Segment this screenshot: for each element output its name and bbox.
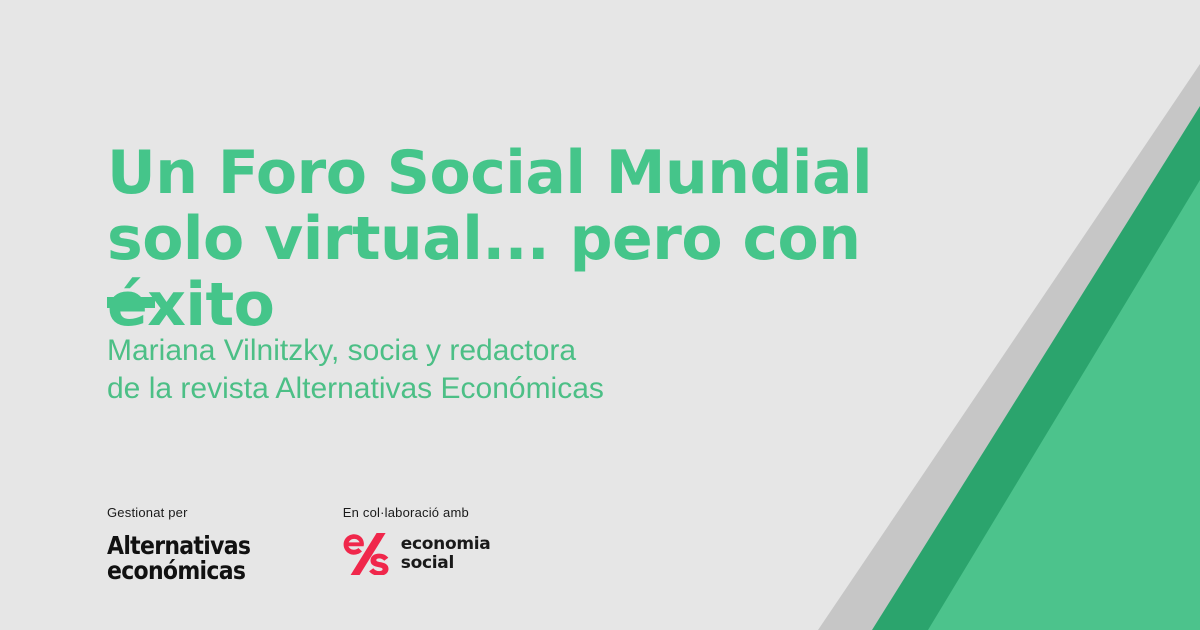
- light-green-diagonal-band: [928, 180, 1200, 630]
- accent-rule: [107, 297, 155, 308]
- page-subtitle: Mariana Vilnitzky, socia y redactora de …: [107, 332, 604, 408]
- es-slash-mark-icon: [343, 533, 392, 575]
- credit-label-managed-by: Gestionat per: [107, 505, 270, 521]
- economia-social-logo[interactable]: economia social: [343, 533, 491, 575]
- credits-row: Gestionat per Alternativas económicas En…: [107, 505, 490, 583]
- credit-collaboration: En col·laboració amb economia social: [343, 505, 491, 575]
- credit-label-collaboration: En col·laboració amb: [343, 505, 491, 521]
- economia-social-wordmark: economia social: [401, 535, 491, 573]
- page-title: Un Foro Social Mundial solo virtual... p…: [107, 140, 967, 338]
- social-share-card: Un Foro Social Mundial solo virtual... p…: [0, 0, 1200, 630]
- credit-managed-by: Gestionat per Alternativas económicas: [107, 505, 270, 583]
- alternativas-economicas-logo[interactable]: Alternativas económicas: [107, 533, 250, 583]
